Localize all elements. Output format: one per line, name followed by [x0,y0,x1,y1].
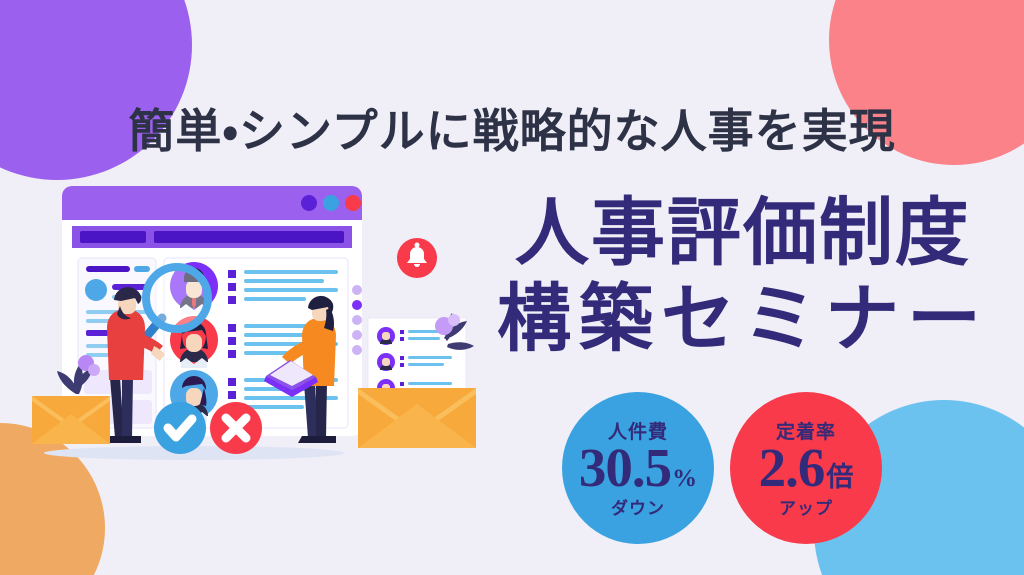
notification-bell-icon [397,238,437,278]
browser-dot-red [345,195,361,211]
stat-badge-cost-unit: % [672,465,697,493]
stat-badge-cost-number: 30.5 [579,440,671,496]
reject-icon [210,402,262,454]
headline: 簡単・シンプルに戦略的な人事を実現 [0,95,1024,161]
stat-badge-retention-sub: アップ [779,494,833,519]
stat-badge-cost-sub: ダウン [611,494,665,519]
browser-dot-purple [301,195,317,211]
envelope-left [32,396,110,444]
title-line-2: 構築セミナー [478,276,1008,362]
browser-dot-blue [323,195,339,211]
profile-avatar-placeholder [85,279,107,301]
stat-badge-retention-unit: 倍 [826,455,853,494]
stat-badge-retention-value: 2.6 倍 [759,440,854,496]
hr-evaluation-illustration [14,178,484,478]
page-title: 人事評価制度 構築セミナー [478,190,1008,362]
stat-badges: 人件費 30.5 % ダウン 定着率 2.6 倍 アップ [562,392,882,544]
approve-icon [154,402,206,454]
stat-badge-retention-number: 2.6 [759,440,825,496]
stat-badge-retention: 定着率 2.6 倍 アップ [730,392,882,544]
stat-badge-cost-value: 30.5 % [579,440,697,496]
envelope-document-right [358,318,476,448]
stat-badge-cost: 人件費 30.5 % ダウン [562,392,714,544]
seminar-banner: 簡単・シンプルに戦略的な人事を実現 人事評価制度 構築セミナー 人件費 30.5… [0,0,1024,575]
title-line-1: 人事評価制度 [478,190,1008,276]
